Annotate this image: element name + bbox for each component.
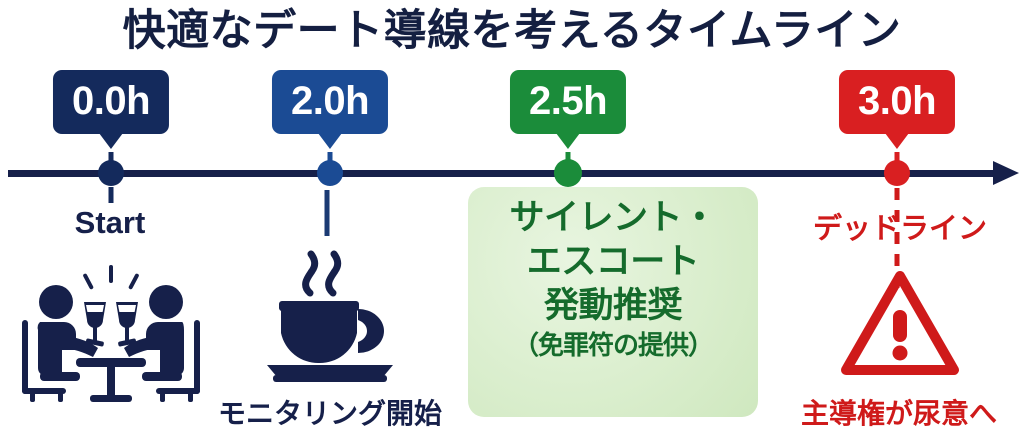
- highlight-panel-text: サイレント・ エスコート 発動推奨 （免罪符の提供）: [468, 196, 758, 362]
- badge-tail-icon: [885, 133, 909, 149]
- timeline-label-0: Start: [75, 205, 146, 241]
- timeline-caption-1: モニタリング開始: [218, 392, 442, 432]
- coffee-cup-icon: [255, 245, 405, 385]
- timeline-node-2[interactable]: [554, 159, 582, 187]
- couple-toasting-icon: [18, 262, 204, 402]
- timeline-node-3[interactable]: [884, 160, 910, 186]
- badge-tail-icon: [99, 133, 123, 149]
- timeline-badge-0[interactable]: 0.0h: [53, 70, 169, 134]
- infographic-canvas: 快適なデート導線を考えるタイムライン 0.0h Start: [0, 0, 1024, 439]
- highlight-line-1: サイレント・: [468, 196, 758, 240]
- highlight-line-3: 発動推奨: [468, 284, 758, 328]
- node-connector-1: [325, 190, 330, 236]
- node-stem-0: [109, 187, 114, 203]
- timeline-badge-3[interactable]: 3.0h: [839, 70, 955, 134]
- badge-tail-icon: [318, 133, 342, 149]
- highlight-line-4: （免罪符の提供）: [468, 328, 758, 362]
- timeline-node-1[interactable]: [317, 160, 343, 186]
- page-title: 快適なデート導線を考えるタイムライン: [0, 6, 1024, 56]
- timeline-badge-1[interactable]: 2.0h: [272, 70, 388, 134]
- arrow-right-icon: [993, 161, 1019, 185]
- timeline-axis: [8, 170, 998, 177]
- timeline-label-3: デッドライン: [813, 205, 987, 247]
- timeline-badge-3-label: 3.0h: [858, 79, 936, 123]
- timeline-badge-2[interactable]: 2.5h: [510, 70, 626, 134]
- timeline-caption-3: 主導権が尿意へ: [801, 392, 997, 432]
- timeline-node-0[interactable]: [98, 160, 124, 186]
- badge-tail-icon: [556, 133, 580, 149]
- warning-triangle-icon: [838, 268, 962, 380]
- highlight-line-2: エスコート: [468, 240, 758, 284]
- timeline-badge-1-label: 2.0h: [291, 79, 369, 123]
- timeline-badge-0-label: 0.0h: [72, 79, 150, 123]
- timeline-badge-2-label: 2.5h: [529, 79, 607, 123]
